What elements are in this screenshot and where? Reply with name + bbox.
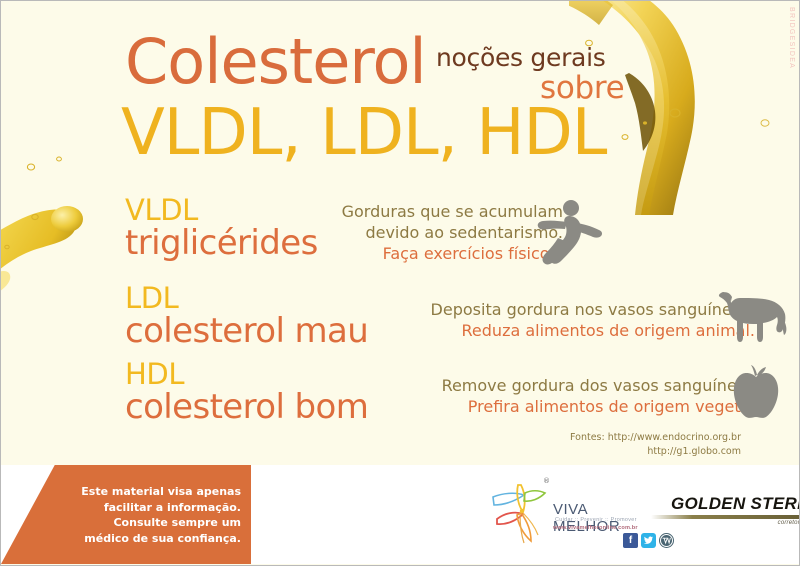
disclaimer-line-2: facilitar a informação. [61, 500, 241, 516]
page-title: Colesterol noções gerais sobre VLDL, LDL… [125, 39, 725, 179]
section-vldl: VLDL triglicérides Gorduras que se acumu… [125, 197, 318, 262]
title-subtitle-lipoproteins: VLDL, LDL, HDL [121, 101, 606, 165]
section-hdl-name: colesterol bom [125, 388, 368, 426]
section-hdl: HDL colesterol bom Remove gordura dos va… [125, 361, 368, 426]
section-ldl-abbr: LDL [125, 285, 368, 312]
section-hdl-abbr: HDL [125, 361, 368, 388]
section-ldl-description: Deposita gordura nos vasos sanguíneos. R… [385, 299, 755, 341]
golden-stern-logo[interactable]: GOLDEN STERN corretora de seguros [651, 491, 799, 539]
disclaimer-line-1: Este material visa apenas [61, 484, 241, 500]
section-hdl-label: HDL colesterol bom [125, 361, 368, 426]
viva-melhor-logo[interactable]: ® VIVA MELHOR Cuidar :: Prevenir :: Prom… [491, 477, 651, 551]
sources-line-1: Fontes: http://www.endocrino.org.br [471, 431, 741, 445]
section-hdl-desc-line1: Remove gordura dos vasos sanguíneos. [390, 375, 760, 396]
cow-icon [717, 287, 791, 345]
apple-icon [731, 363, 781, 419]
section-vldl-abbr: VLDL [125, 197, 318, 224]
viva-melhor-flower-icon [491, 479, 553, 547]
section-hdl-description: Remove gordura dos vasos sanguíneos. Pre… [390, 375, 760, 417]
section-ldl-desc-line1: Deposita gordura nos vasos sanguíneos. [385, 299, 755, 320]
sources-block: Fontes: http://www.endocrino.org.br http… [471, 431, 741, 459]
title-kicker-nocoes-gerais: noções gerais [436, 45, 605, 70]
golden-stern-rule [651, 515, 799, 519]
bridgesidea-credit: BRIDGESIDEA [788, 7, 795, 69]
section-ldl-advice: Reduza alimentos de origem animal. [385, 320, 755, 341]
section-ldl-name: colesterol mau [125, 312, 368, 350]
section-vldl-desc-line2: devido ao sedentarismo. [303, 222, 563, 243]
section-ldl-label: LDL colesterol mau [125, 285, 368, 350]
section-vldl-description: Gorduras que se acumulam devido ao seden… [303, 201, 563, 264]
golden-stern-tagline: corretora de seguros [778, 520, 799, 526]
logo-row: ® VIVA MELHOR Cuidar :: Prevenir :: Prom… [251, 465, 799, 564]
facebook-icon[interactable]: f [623, 533, 638, 548]
disclaimer-line-3: Consulte sempre um [61, 515, 241, 531]
running-man-icon [529, 197, 603, 269]
section-ldl: LDL colesterol mau Deposita gordura nos … [125, 285, 368, 350]
disclaimer-line-4: médico de sua confiança. [61, 531, 241, 547]
poster-canvas: BRIDGESIDEA Colesterol noções gerais sob… [0, 0, 800, 566]
footer-band: Este material visa apenas facilitar a in… [1, 465, 799, 564]
section-vldl-desc-line1: Gorduras que se acumulam [303, 201, 563, 222]
oil-splash-left [0, 151, 113, 481]
title-colesterol: Colesterol [125, 31, 426, 93]
disclaimer-text: Este material visa apenas facilitar a in… [61, 484, 241, 546]
section-vldl-name: triglicérides [125, 224, 318, 262]
viva-melhor-tagline: Cuidar :: Prevenir :: Promover [555, 517, 637, 523]
section-hdl-advice: Prefira alimentos de origem vegetal. [390, 396, 760, 417]
section-vldl-advice: Faça exercícios físicos. [303, 243, 563, 264]
viva-melhor-url[interactable]: www.vivamelhoronline.com.br [553, 525, 638, 531]
registered-trademark-icon: ® [543, 477, 550, 485]
section-vldl-label: VLDL triglicérides [125, 197, 318, 262]
golden-stern-name: GOLDEN STERN [671, 494, 799, 514]
sources-line-2: http://g1.globo.com [471, 445, 741, 459]
disclaimer-panel: Este material visa apenas facilitar a in… [1, 465, 251, 564]
